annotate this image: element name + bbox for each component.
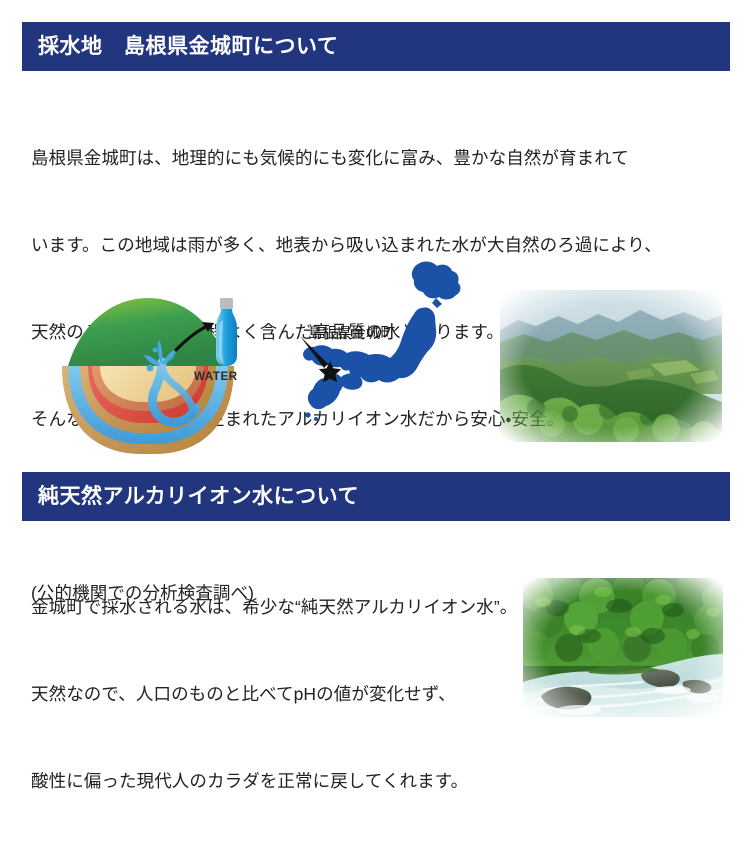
paragraph-pure-water: 金城町で採水される水は、希少な“純天然アルカリイオン水”。 天然なので、人口のも… [31, 535, 517, 854]
section-title-source-area: 採水地 島根県金城町について [22, 36, 338, 57]
section-title-pure-water: 純天然アルカリイオン水について [22, 486, 359, 507]
paragraph-line: います。この地域は雨が多く、地表から吸い込まれた水が大自然のろ過により、 [31, 231, 662, 260]
section-banner-source-area: 採水地 島根県金城町について [22, 22, 730, 71]
section-banner-pure-water: 純天然アルカリイオン水について [22, 472, 730, 521]
paragraph-line: 島根県金城町は、地理的にも気候的にも変化に富み、豊かな自然が育まれて [31, 144, 662, 173]
map-location-label: 島根県金城町 [308, 322, 395, 343]
figures-row: WATER [0, 258, 750, 463]
paragraph-line: 天然なので、人口のものと比べてpHの値が変化せず、 [31, 680, 517, 709]
forest-stream-image [523, 578, 723, 717]
forest-stream-photo [523, 578, 723, 717]
mountain-forest-photo [500, 290, 722, 442]
japan-map-figure: 島根県金城町 [300, 258, 490, 458]
paragraph-line: 酸性に偏った現代人のカラダを正常に戻してくれます。 [31, 767, 517, 796]
product-info-page: 採水地 島根県金城町について 島根県金城町は、地理的にも気候的にも変化に富み、豊… [0, 0, 750, 750]
water-bottle-icon [216, 298, 237, 366]
bottle-label-water: WATER [194, 371, 238, 383]
paragraph-line: 金城町で採水される水は、希少な“純天然アルカリイオン水”。 [31, 593, 517, 622]
mountain-forest-image [500, 290, 722, 442]
japan-map-svg [300, 258, 490, 458]
geological-cross-section: WATER [58, 278, 288, 458]
